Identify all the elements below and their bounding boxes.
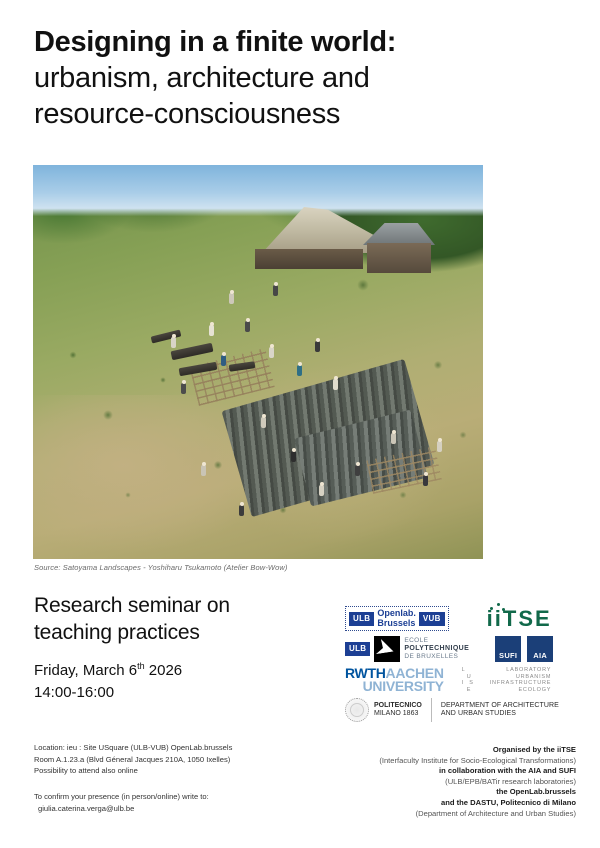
contact-instruction: To confirm your presence (in person/onli…	[34, 791, 334, 803]
hero-photo	[33, 165, 483, 559]
location-info: Location: ieu : Site USquare (ULB-VUB) O…	[34, 742, 334, 777]
politecnico-sub: MILANO 1863	[374, 710, 422, 719]
worker-figure	[201, 465, 206, 476]
aia-label: AIA	[527, 651, 553, 660]
seminar-info: Research seminar on teaching practices F…	[34, 592, 334, 704]
politecnico-milano-logo: POLITECNICO MILANO 1863 DEPARTMENT OF AR…	[345, 698, 559, 722]
polytechnique-line-3: DE BRUXELLES	[404, 653, 469, 661]
luise-laboratory-logo: L I U I S E LABORATORY URBANISM INFRASTR…	[462, 667, 552, 693]
polytechnique-line-1: ECOLE	[404, 637, 469, 645]
seminar-date: Friday, March 6th 2026	[34, 655, 334, 682]
worker-figure	[229, 293, 234, 304]
organiser-line-7: (Department of Architecture and Urban St…	[306, 809, 576, 820]
luise-word-4: ECOLOGY	[490, 687, 552, 694]
polytechnique-arrow-icon	[374, 636, 400, 662]
worker-figure	[221, 355, 226, 366]
title-line-3: resource-consciousness	[34, 96, 554, 132]
openlab-wordmark-line-2: Brussels	[377, 619, 416, 629]
contact-info: To confirm your presence (in person/onli…	[34, 791, 334, 814]
organiser-line-5: the OpenLab.brussels	[306, 787, 576, 798]
worker-figure	[239, 505, 244, 516]
luise-letter-row-4: E	[462, 687, 484, 694]
luise-letter-e: E	[467, 687, 472, 693]
luise-acronym: L I U I S E	[462, 667, 484, 693]
openlab-wordmark: Openlab. Brussels	[377, 609, 416, 628]
rwth-aachen-logo: RWTHAACHEN UNIVERSITY	[345, 667, 444, 693]
luise-word-3: INFRASTRUCTURE	[490, 680, 552, 687]
logo-row-3: RWTHAACHEN UNIVERSITY L I U I S E LABORA…	[345, 667, 577, 693]
page-title: Designing in a finite world: urbanism, a…	[34, 24, 554, 132]
organiser-credits: Organised by the iiTSE (Interfaculty Ins…	[306, 745, 576, 819]
organiser-line-2: (Interfaculty Institute for Socio-Ecolog…	[306, 756, 576, 767]
worker-figure	[273, 285, 278, 296]
seminar-date-text: Friday, March 6	[34, 662, 137, 679]
title-line-1: Designing in a finite world:	[34, 24, 554, 60]
title-line-2: urbanism, architecture and	[34, 60, 554, 96]
location-line-1: Location: ieu : Site USquare (ULB-VUB) O…	[34, 742, 334, 754]
worker-figure	[437, 441, 442, 452]
worker-figure	[291, 451, 296, 462]
worker-figure	[319, 485, 324, 496]
worker-figure	[315, 341, 320, 352]
politecnico-department: DEPARTMENT OF ARCHITECTURE AND URBAN STU…	[441, 702, 559, 719]
worker-figure	[297, 365, 302, 376]
organiser-line-3: in collaboration with the AIA and SUFI	[306, 766, 576, 777]
vub-logo-mark: VUB	[419, 612, 445, 626]
secondary-building-wall	[367, 243, 431, 273]
photo-scene	[33, 165, 483, 559]
sufi-label: SUFI	[495, 651, 521, 660]
iitse-dots-icon	[489, 603, 515, 611]
ulb-logo-mark: ULB	[349, 612, 374, 626]
politecnico-dept-line-1: DEPARTMENT OF ARCHITECTURE	[441, 702, 559, 711]
worker-figure	[209, 325, 214, 336]
worker-figure	[181, 383, 186, 394]
worker-figure	[333, 379, 338, 390]
politecnico-name: POLITECNICO	[374, 702, 422, 711]
iitse-logo: iiTSE	[487, 607, 552, 631]
seminar-date-ordinal: th	[137, 661, 145, 671]
photo-caption: Source: Satoyama Landscapes - Yoshiharu …	[34, 563, 288, 572]
worker-figure	[245, 321, 250, 332]
seminar-heading-line-1: Research seminar on	[34, 592, 334, 619]
luise-letter-u: U	[467, 674, 472, 680]
contact-email[interactable]: giulia.caterina.verga@ulb.be	[34, 803, 334, 815]
location-line-2: Room A.1.23.a (Blvd Géneral Jacques 210A…	[34, 754, 334, 766]
worker-figure	[171, 337, 176, 348]
seminar-date-year: 2026	[145, 662, 183, 679]
seminar-time: 14:00-16:00	[34, 682, 334, 704]
farmhouse-wall	[255, 249, 363, 269]
worker-figure	[391, 433, 396, 444]
rwth-university-text: UNIVERSITY	[345, 680, 444, 693]
politecnico-dept-line-2: AND URBAN STUDIES	[441, 710, 559, 719]
ulb-logo-mark: ULB	[345, 642, 370, 656]
polytechnique-wordmark: ECOLE POLYTECHNIQUE DE BRUXELLES	[404, 637, 469, 661]
ecole-polytechnique-logo: ULB ECOLE POLYTECHNIQUE DE BRUXELLES	[345, 636, 469, 662]
lab-logos: SUFI AIA	[495, 636, 553, 662]
polytechnique-line-2: POLYTECHNIQUE	[404, 645, 469, 653]
logo-row-1: ULB Openlab. Brussels VUB iiTSE	[345, 606, 577, 631]
aia-logo: AIA	[527, 636, 553, 662]
luise-letter-l: L	[462, 667, 466, 673]
luise-wordmark: LABORATORY URBANISM INFRASTRUCTURE ECOLO…	[490, 667, 552, 693]
sufi-logo: SUFI	[495, 636, 521, 662]
politecnico-seal-icon	[345, 698, 369, 722]
seminar-heading-line-2: teaching practices	[34, 619, 334, 646]
luise-letter-i: I	[462, 680, 465, 686]
logo-divider	[431, 698, 432, 722]
location-line-3: Possibility to attend also online	[34, 765, 334, 777]
organiser-line-4: (ULB/EPB/BATir research laboratories)	[306, 777, 576, 788]
politecnico-wordmark: POLITECNICO MILANO 1863	[374, 702, 422, 719]
logo-row-4: POLITECNICO MILANO 1863 DEPARTMENT OF AR…	[345, 698, 577, 722]
worker-figure	[261, 417, 266, 428]
openlab-brussels-logo: ULB Openlab. Brussels VUB	[345, 606, 449, 631]
organiser-line-6: and the DASTU, Politecnico di Milano	[306, 798, 576, 809]
organiser-line-1: Organised by the iiTSE	[306, 745, 576, 756]
worker-figure	[269, 347, 274, 358]
logo-grid: ULB Openlab. Brussels VUB iiTSE ULB ECOL…	[345, 606, 577, 727]
worker-figure	[423, 475, 428, 486]
worker-figure	[355, 465, 360, 476]
luise-letter-s: S	[469, 680, 474, 686]
logo-row-2: ULB ECOLE POLYTECHNIQUE DE BRUXELLES SUF…	[345, 636, 577, 662]
